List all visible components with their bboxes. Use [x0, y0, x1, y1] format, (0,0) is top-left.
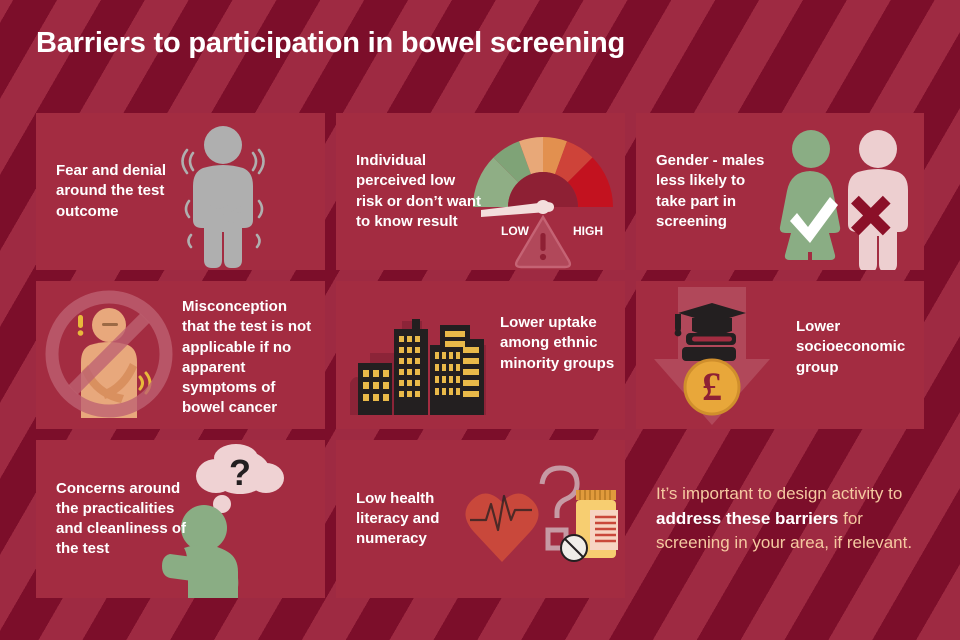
books-icon: [682, 333, 736, 361]
barrier-label-perceived-low-risk: Individual perceived low risk or don’t w…: [336, 151, 486, 232]
barrier-card-gender: Gender - males less likely to take part …: [636, 113, 924, 270]
pill-bottle-icon: [561, 490, 618, 561]
infographic-root: Barriers to participation in bowel scree…: [0, 0, 960, 640]
risk-gauge-icon: LOW HIGH: [473, 131, 613, 259]
cityscape-icon: [350, 297, 490, 415]
barrier-card-perceived-low-risk: Individual perceived low risk or don’t w…: [336, 113, 625, 270]
barrier-label-socioeconomic: Lower socioeconomic group: [796, 317, 921, 378]
closing-emphasis: address these barriers: [656, 509, 838, 528]
heart-ecg-icon: [465, 493, 538, 562]
gauge-high-label: HIGH: [573, 224, 603, 238]
barrier-card-fear-and-denial: Fear and denial around the test outcome: [36, 113, 325, 270]
page-title: Barriers to participation in bowel scree…: [36, 26, 625, 61]
closing-part1: It’s important to design activity to: [656, 484, 902, 503]
barrier-card-health-literacy: Low health literacy and numeracy: [336, 440, 625, 598]
down-arrow-education-money-icon: £: [652, 287, 772, 427]
question-mark-glyph: ?: [229, 452, 251, 493]
barriers-grid: Fear and denial around the test outcome: [36, 113, 924, 598]
male-female-figures-icon: [773, 127, 918, 270]
heart-question-pillbottle-icon: [464, 462, 619, 577]
barrier-label-ethnic-minority: Lower uptake among ethnic minority group…: [500, 313, 625, 374]
barrier-card-misconception: Misconception that the test is not appli…: [36, 281, 325, 429]
gauge-low-label: LOW: [501, 224, 530, 238]
closing-statement-block: It’s important to design activity to add…: [636, 440, 924, 598]
barrier-label-misconception: Misconception that the test is not appli…: [182, 297, 314, 419]
no-symptoms-prohibition-icon: [44, 289, 174, 419]
barrier-label-gender: Gender - males less likely to take part …: [636, 151, 776, 232]
pound-coin-icon: £: [685, 360, 739, 414]
barrier-label-practicalities: Concerns around the practicalities and c…: [36, 479, 196, 560]
svg-text:£: £: [702, 364, 722, 409]
barrier-card-practicalities: Concerns around the practicalities and c…: [36, 440, 325, 598]
closing-statement-text: It’s important to design activity to add…: [636, 482, 924, 556]
thinking-person-question-icon: ?: [178, 442, 303, 598]
barrier-card-ethnic-minority: Lower uptake among ethnic minority group…: [336, 281, 625, 429]
barrier-label-fear-and-denial: Fear and denial around the test outcome: [36, 161, 206, 222]
barrier-label-health-literacy: Low health literacy and numeracy: [336, 489, 468, 550]
barrier-card-socioeconomic: £ Lower socioeconomic group: [636, 281, 924, 429]
